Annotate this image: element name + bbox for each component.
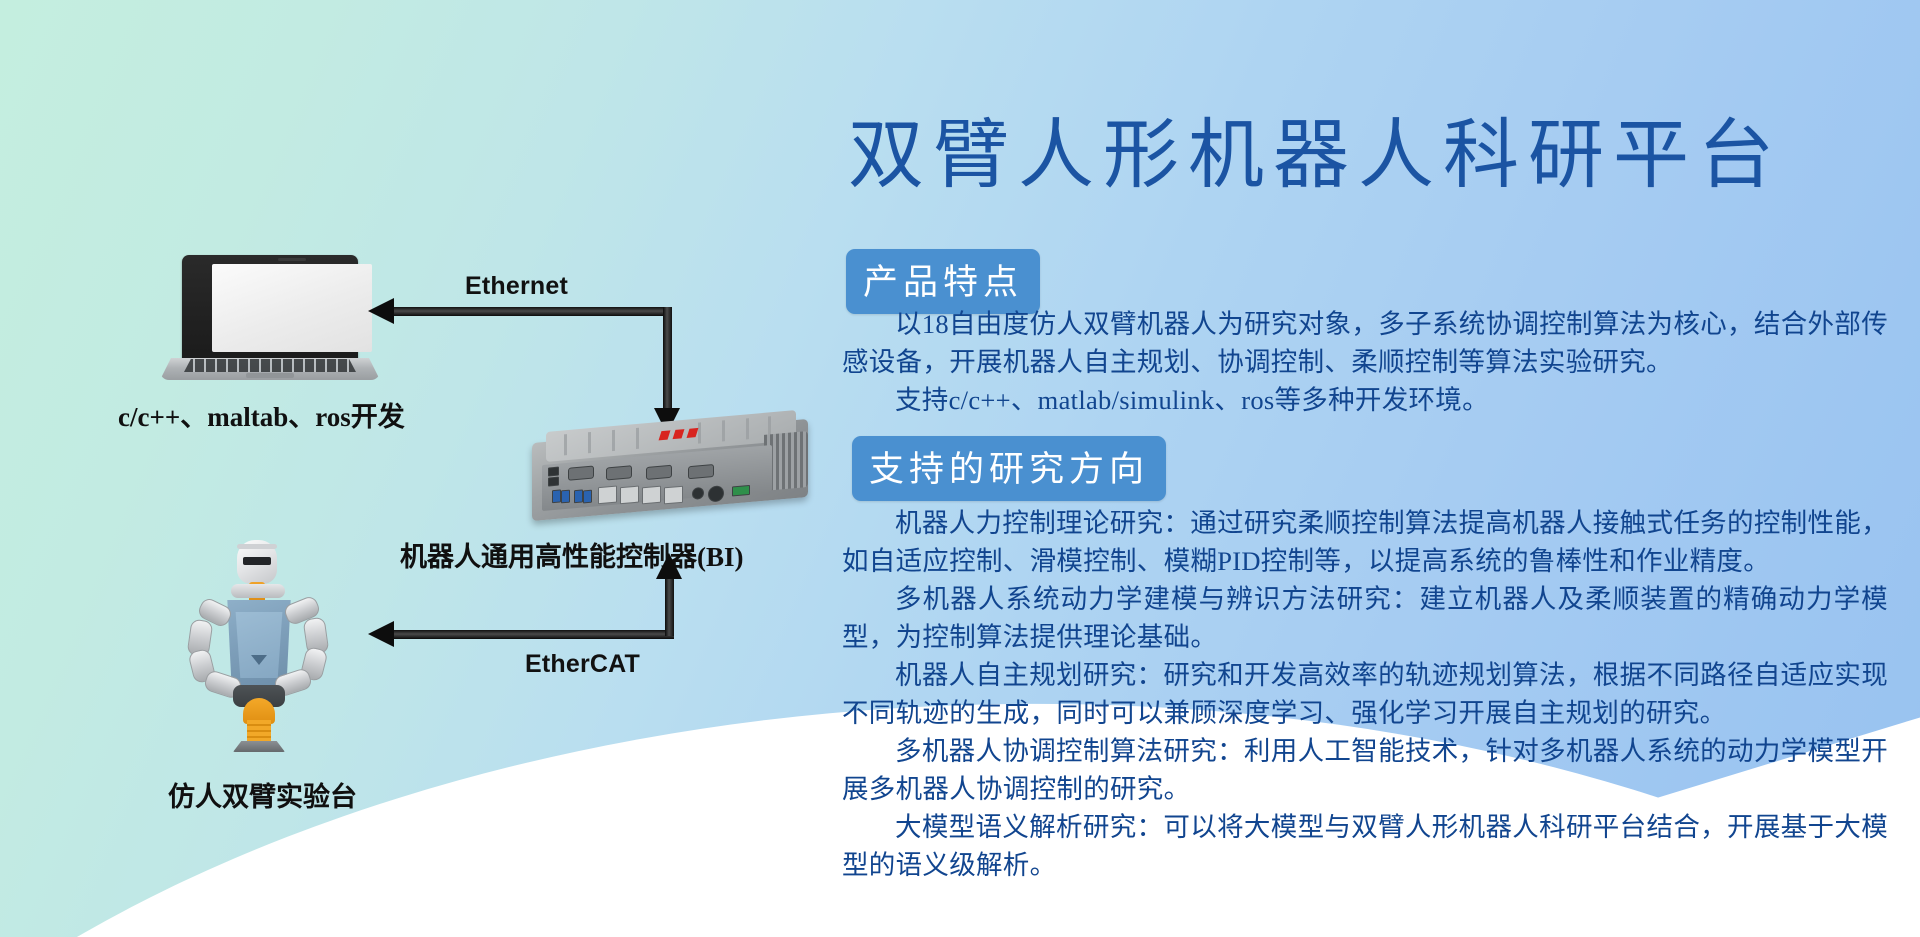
ethercat-label: EtherCAT [525,650,640,679]
ethernet-label: Ethernet [465,272,568,301]
laptop-graphic [160,255,380,380]
ethernet-arrow-head [368,298,394,324]
robot-base-plate [233,741,285,752]
features-paragraph-1: 以18自由度仿人双臂机器人为研究对象，多子系统协调控制算法为核心，结合外部传感设… [842,305,1888,381]
laptop-camera-notch [278,258,306,261]
content-column: 双臂人形机器人科研平台 产品特点 以18自由度仿人双臂机器人为研究对象，多子系统… [836,0,1920,937]
controller-graphic [520,415,820,525]
ethercat-arrow-head-up [656,553,682,579]
robot-head-band [237,544,277,549]
robot-support-column [247,720,271,744]
ethernet-arrow-horizontal [392,307,672,316]
section-badge-directions: 支持的研究方向 [852,436,1166,501]
features-paragraph-2: 支持c/c++、matlab/simulink、ros等多种开发环境。 [842,381,1888,419]
directions-paragraph-3: 机器人自主规划研究：研究和开发高效率的轨迹规划算法，根据不同路径自适应实现不同轨… [842,656,1888,732]
directions-paragraph-4: 多机器人协调控制算法研究：利用人工智能技术，针对多机器人系统的动力学模型开展多机… [842,732,1888,808]
laptop-screen [212,264,372,352]
laptop-lid [182,255,358,361]
laptop-caption: c/c++、maltab、ros开发 [118,395,405,434]
ethercat-arrow-horizontal [392,630,674,639]
directions-paragraph-1: 机器人力控制理论研究：通过研究柔顺控制算法提高机器人接触式任务的控制性能，如自适… [842,504,1888,580]
robot-chest-plate [233,612,285,678]
robot-caption: 仿人双臂实验台 [168,775,357,814]
laptop-keyboard [184,359,356,372]
laptop-trackpad [246,373,294,378]
ethercat-arrow-head [368,621,394,647]
ethercat-arrow-vertical [665,578,674,636]
controller-caption: 机器人通用高性能控制器(BI) [400,535,744,574]
ethernet-arrow-vertical [663,307,672,417]
directions-paragraph-5: 大模型语义解析研究：可以将大模型与双臂人形机器人科研平台结合，开展基于大模型的语… [842,808,1888,884]
system-diagram: c/c++、maltab、ros开发 Ethernet [0,0,860,937]
directions-paragraph-2: 多机器人系统动力学建模与辨识方法研究：建立机器人及柔顺装置的精确动力学模型，为控… [842,580,1888,656]
poster-root: c/c++、maltab、ros开发 Ethernet [0,0,1920,937]
page-title: 双臂人形机器人科研平台 [848,118,1908,194]
robot-shoulder-bar [231,584,285,598]
robot-visor [243,557,271,565]
robot-graphic [185,540,335,755]
